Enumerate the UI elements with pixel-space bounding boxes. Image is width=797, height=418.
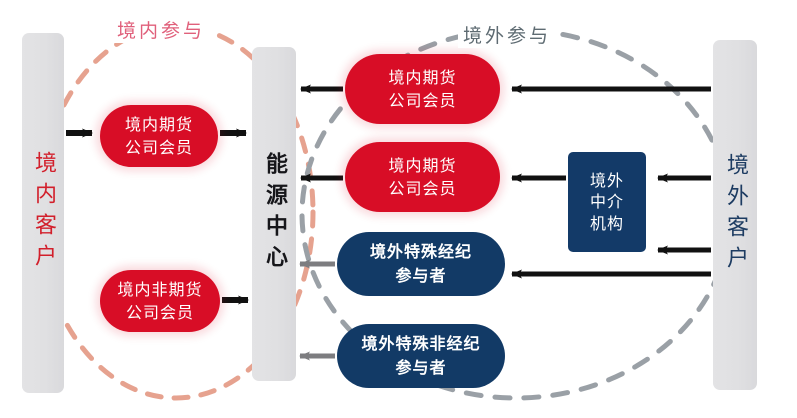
column-overseas-customers-label: 境外客户 <box>724 153 746 277</box>
diagram-canvas: 境内参与 境外参与 境内客户 能源中心 境外客户 境内期货 公司会员 境内非期货… <box>0 0 797 418</box>
node-line-1: 境内期货 <box>388 154 456 177</box>
node-overseas-special-non-broker[interactable]: 境外特殊非经纪 参与者 <box>337 324 505 388</box>
column-overseas-customers[interactable]: 境外客户 <box>713 40 757 390</box>
column-domestic-customers-label: 境内客户 <box>32 151 54 275</box>
node-line-1: 境内期货 <box>388 66 456 89</box>
node-line-2: 公司会员 <box>126 301 194 324</box>
column-energy-center[interactable]: 能源中心 <box>252 47 296 381</box>
domestic-participation-label: 境内参与 <box>112 16 210 43</box>
node-line-3: 机构 <box>590 213 624 235</box>
node-line-2: 中介 <box>590 191 624 213</box>
column-domestic-customers[interactable]: 境内客户 <box>22 33 64 393</box>
node-line-2: 公司会员 <box>125 136 193 159</box>
node-line-2: 公司会员 <box>388 177 456 200</box>
node-line-2: 参与者 <box>395 264 446 288</box>
node-line-1: 境外 <box>590 170 624 192</box>
node-domestic-futures-member-1[interactable]: 境内期货 公司会员 <box>100 105 218 167</box>
node-domestic-non-futures-member[interactable]: 境内非期货 公司会员 <box>100 270 220 332</box>
node-line-1: 境内非期货 <box>117 278 202 301</box>
node-line-2: 参与者 <box>395 356 446 380</box>
overseas-participation-label: 境外参与 <box>458 21 556 48</box>
node-domestic-futures-member-3[interactable]: 境内期货 公司会员 <box>345 142 500 212</box>
node-domestic-futures-member-2[interactable]: 境内期货 公司会员 <box>345 54 500 124</box>
node-overseas-special-broker[interactable]: 境外特殊经纪 参与者 <box>337 232 505 296</box>
column-energy-center-label: 能源中心 <box>263 152 285 276</box>
node-line-2: 公司会员 <box>388 89 456 112</box>
node-line-1: 境内期货 <box>125 113 193 136</box>
node-line-1: 境外特殊非经纪 <box>361 332 480 356</box>
node-line-1: 境外特殊经纪 <box>370 240 472 264</box>
node-overseas-intermediary-agency[interactable]: 境外 中介 机构 <box>568 152 646 252</box>
